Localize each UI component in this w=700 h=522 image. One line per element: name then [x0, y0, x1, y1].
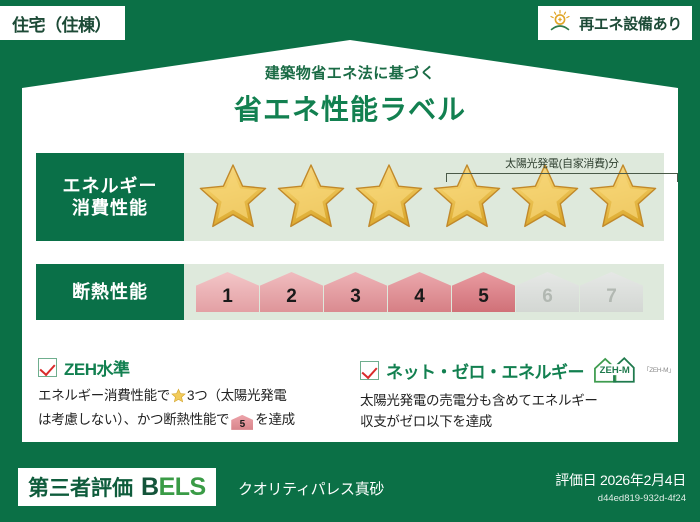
zeh-description: エネルギー消費性能で 3つ（太陽光発電 は考慮しない）、かつ断熱性能で5を達成 — [38, 386, 338, 431]
star-rating-panel: 太陽光発電(自家消費)分 — [184, 153, 664, 241]
evaluation-info: 評価日 2026年2月4日 d44ed819-932d-4f24 — [555, 470, 686, 504]
nzeb-title: ネット・ゼロ・エネルギー — [386, 358, 584, 383]
evaluation-date-value: 2026年2月4日 — [600, 472, 686, 488]
star-4 — [428, 161, 506, 233]
bels-letter-b: B — [141, 473, 159, 501]
insulation-performance-label: 断熱性能 — [36, 264, 184, 320]
bels-wordmark: BELS — [141, 473, 206, 502]
energy-label-line2: 消費性能 — [72, 197, 148, 220]
insulation-grade-2: 2 — [260, 272, 323, 312]
net-zero-energy-section: ネット・ゼロ・エネルギー ZEH-M 「ZEH-M」 太陽光発電の売電分も含めて… — [360, 355, 672, 433]
footer-bar: 第三者評価 BELS クオリティパレス真砂 評価日 2026年2月4日 d44e… — [0, 452, 700, 522]
svg-text:ZEH-M: ZEH-M — [600, 365, 630, 376]
evaluation-date-label: 評価日 — [555, 472, 596, 488]
insulation-grade-3: 3 — [324, 272, 387, 312]
star-2 — [272, 161, 350, 233]
nzeb-heading: ネット・ゼロ・エネルギー ZEH-M 「ZEH-M」 — [360, 355, 672, 385]
insulation-grade-4: 4 — [388, 272, 451, 312]
star-5 — [506, 161, 584, 233]
evaluation-id: d44ed819-932d-4f24 — [555, 493, 686, 504]
page-title: 省エネ性能ラベル — [0, 88, 700, 128]
zeh-check-icon — [38, 358, 57, 377]
insulation-grade-5: 5 — [452, 272, 515, 312]
badge-renewable-label: 再エネ設備あり — [579, 13, 682, 34]
title-block: 建築物省エネ法に基づく 省エネ性能ラベル — [0, 62, 700, 128]
page-subtitle: 建築物省エネ法に基づく — [0, 62, 700, 83]
star-6 — [584, 161, 662, 233]
bels-label-text: 第三者評価 — [28, 472, 133, 502]
inline-grade-badge: 5 — [231, 415, 253, 430]
energy-performance-row: エネルギー 消費性能 太陽光発電(自家消費)分 — [36, 153, 664, 241]
insulation-grade-7: 7 — [580, 272, 643, 312]
nzeb-text-line1: 太陽光発電の売電分も含めてエネルギー — [360, 393, 598, 408]
evaluation-date: 評価日 2026年2月4日 — [555, 470, 686, 490]
energy-label-line1: エネルギー — [63, 175, 158, 198]
zeh-m-caption: 「ZEH-M」 — [643, 364, 672, 376]
zeh-text-part3: を達成 — [255, 412, 295, 427]
energy-performance-label: エネルギー 消費性能 — [36, 153, 184, 241]
insulation-grade-1: 1 — [196, 272, 259, 312]
inline-star-icon — [171, 388, 186, 410]
insulation-label-text: 断熱性能 — [72, 281, 148, 304]
insulation-grade-6: 6 — [516, 272, 579, 312]
zeh-standard-section: ZEH水準 エネルギー消費性能で 3つ（太陽光発電 は考慮しない）、かつ断熱性能… — [38, 355, 338, 431]
nzeb-description: 太陽光発電の売電分も含めてエネルギー 収支がゼロ以下を達成 — [360, 391, 672, 433]
nzeb-text-line2: 収支がゼロ以下を達成 — [360, 414, 492, 429]
star-3 — [350, 161, 428, 233]
building-name: クオリティパレス真砂 — [238, 478, 384, 499]
badge-dwelling-label: 住宅（住棟） — [12, 11, 111, 36]
badge-dwelling-type: 住宅（住棟） — [0, 6, 125, 40]
zeh-heading: ZEH水準 — [38, 355, 338, 380]
sun-renewable-icon — [548, 9, 572, 37]
energy-performance-label: 住宅（住棟） 再エネ設備あり 建築物省エネ法に基づく 省エネ性能ラベル — [0, 0, 700, 522]
zeh-title: ZEH水準 — [64, 355, 130, 380]
insulation-performance-row: 断熱性能 1234567 — [36, 264, 664, 320]
star-1 — [194, 161, 272, 233]
bels-letters-els: ELS — [159, 473, 206, 501]
zeh-text-part1: エネルギー消費性能で — [38, 388, 170, 403]
zeh-m-logo: ZEH-M — [592, 355, 636, 385]
nzeb-check-icon — [360, 361, 379, 380]
badge-renewable-equipment: 再エネ設備あり — [538, 6, 692, 40]
zeh-text-part2: は考慮しない）、かつ断熱性能で — [38, 412, 229, 427]
bels-certification-mark: 第三者評価 BELS — [18, 468, 216, 506]
insulation-grade-panel: 1234567 — [184, 264, 664, 320]
zeh-text-star-count: 3つ（太陽光発電 — [187, 388, 287, 403]
